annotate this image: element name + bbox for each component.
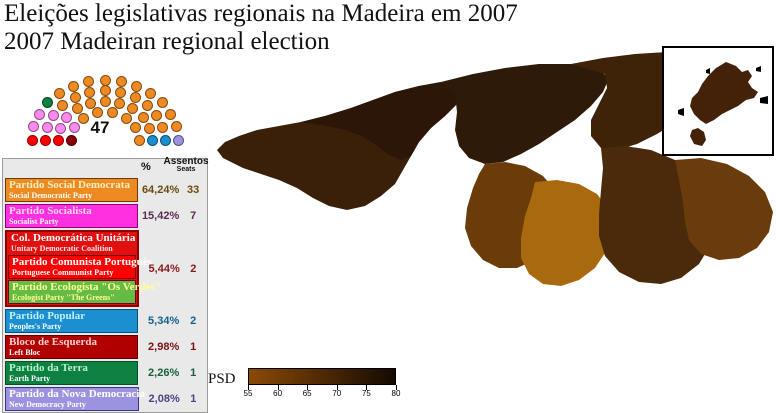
inset-islet-east xyxy=(760,96,768,104)
hemicycle-seat xyxy=(48,110,59,121)
hemicycle-seat xyxy=(130,92,141,103)
hemicycle-seat xyxy=(131,81,142,92)
party-name-pt: Col. Democrática Unitária xyxy=(11,233,133,244)
party-name-en: Portuguese Communist Party xyxy=(12,268,132,277)
scale-tick-label: 65 xyxy=(303,389,312,398)
scale-label: PSD xyxy=(208,371,236,388)
party-name-pt: Partido da Terra xyxy=(9,363,134,374)
inset-islet-northeast xyxy=(756,66,761,72)
party-results-legend: % Assentos Seats Partido Social Democrat… xyxy=(2,158,208,413)
legend-row: Partido da Nova DemocraciaNew Democracy … xyxy=(3,386,207,412)
legend-header-seats: Assentos Seats xyxy=(163,158,209,174)
coalition-header: Col. Democrática UnitáriaUnitary Democra… xyxy=(8,233,136,254)
hemicycle-seat xyxy=(69,122,80,133)
party-name-en: Social Democratic Party xyxy=(9,191,134,200)
hemicycle-seat xyxy=(114,98,125,109)
legend-row: Partido PopularPeoples's Party5,34%2 xyxy=(3,308,207,334)
hemicycle-seat xyxy=(53,135,64,146)
party-name-en: Socialist Party xyxy=(9,217,134,226)
hemicycle-seat xyxy=(165,109,176,120)
hemicycle-seat xyxy=(54,88,65,99)
legend-row: Col. Democrática UnitáriaUnitary Democra… xyxy=(3,229,207,308)
map-region-central-north xyxy=(441,64,609,164)
party-percent: 5,34% xyxy=(138,309,182,333)
hemicycle-seat xyxy=(57,100,68,111)
party-swatch: Bloco de EsquerdaLeft Bloc xyxy=(5,335,138,359)
party-name-pt: Partido Socialista xyxy=(9,206,134,217)
hemicycle-seat xyxy=(27,135,38,146)
party-percent: 2,08% xyxy=(139,387,182,411)
inset-islet-south xyxy=(690,128,706,146)
party-swatch: Partido SocialistaSocialist Party xyxy=(5,204,138,228)
hemicycle-seat xyxy=(121,113,132,124)
hemicycle-seat xyxy=(68,81,79,92)
party-percent: 5,44% xyxy=(139,230,182,307)
party-seats: 1 xyxy=(181,335,205,359)
party-seats: 1 xyxy=(182,387,205,411)
hemicycle-seat xyxy=(66,135,77,146)
total-seats-label: 47 xyxy=(80,118,120,138)
hemicycle-seat xyxy=(42,122,53,133)
hemicycle-seat xyxy=(151,110,162,121)
party-percent: 15,42% xyxy=(138,204,182,228)
page-title-pt: Eleições legislativas regionais na Madei… xyxy=(4,0,518,28)
party-name-pt: Partido da Nova Democracia xyxy=(9,389,135,400)
hemicycle-seat xyxy=(116,76,127,87)
hemicycle-seat xyxy=(138,112,149,123)
hemicycle-seat xyxy=(70,92,81,103)
hemicycle-seat xyxy=(107,107,118,118)
legend-row: Partido da TerraEarth Party2,26%1 xyxy=(3,360,207,386)
legend-header-percent: % xyxy=(141,161,151,173)
hemicycle-seat xyxy=(55,123,66,134)
inset-porto-santo-shape xyxy=(690,62,758,124)
hemicycle-seat xyxy=(83,76,94,87)
hemicycle-seat xyxy=(61,112,72,123)
party-name-en: Earth Party xyxy=(9,374,134,383)
scale-tick-label: 80 xyxy=(392,389,401,398)
hemicycle-seat xyxy=(173,135,184,146)
party-swatch-coalition: Col. Democrática UnitáriaUnitary Democra… xyxy=(5,230,139,307)
hemicycle-seat xyxy=(28,121,39,132)
hemicycle-seat xyxy=(157,122,168,133)
inset-islet-west xyxy=(678,108,684,116)
party-name-pt: Partido Social Democrata xyxy=(9,180,134,191)
scale-tick-label: 60 xyxy=(273,389,282,398)
scale-tick-label: 55 xyxy=(244,389,253,398)
hemicycle-seat xyxy=(145,88,156,99)
party-swatch: Partido Social DemocrataSocial Democrati… xyxy=(5,178,138,202)
hemicycle-seat xyxy=(115,87,126,98)
party-seats: 2 xyxy=(181,309,205,333)
inset-svg xyxy=(664,48,772,154)
legend-header: % Assentos Seats xyxy=(3,159,207,177)
party-swatch: Partido PopularPeoples's Party xyxy=(5,309,138,333)
hemicycle-seat xyxy=(100,96,111,107)
party-swatch: Partido da TerraEarth Party xyxy=(5,361,138,385)
scale-tick-label: 75 xyxy=(362,389,371,398)
party-name-pt: Partido Comunista Português xyxy=(12,257,132,268)
party-percent: 2,98% xyxy=(138,335,182,359)
party-name-pt: Partido Ecologista "Os Verdes" xyxy=(12,282,132,293)
party-name-pt: Bloco de Esquerda xyxy=(9,337,134,348)
party-seats: 7 xyxy=(181,204,205,228)
hemicycle-seat xyxy=(157,97,168,108)
scale-gradient-bar xyxy=(248,368,396,385)
hemicycle-seat xyxy=(92,107,103,118)
hemicycle-seat xyxy=(40,135,51,146)
hemicycle-seat xyxy=(171,121,182,132)
party-seats: 1 xyxy=(181,361,205,385)
hemicycle-seat xyxy=(34,109,45,120)
legend-row: Partido Social DemocrataSocial Democrati… xyxy=(3,177,207,203)
party-percent: 2,26% xyxy=(138,361,182,385)
hemicycle-seat xyxy=(100,75,111,86)
legend-header-seats-en: Seats xyxy=(163,166,209,174)
hemicycle-seat xyxy=(130,122,141,133)
party-swatch-subparty: Partido Ecologista "Os Verdes"Ecologist … xyxy=(8,280,136,304)
hemicycle-seat xyxy=(144,123,155,134)
party-name-en: Peoples's Party xyxy=(9,322,134,331)
hemicycle-seat xyxy=(100,85,111,96)
party-swatch: Partido da Nova DemocraciaNew Democracy … xyxy=(5,387,139,411)
parliament-hemicycle-diagram xyxy=(0,62,210,152)
hemicycle-seat xyxy=(134,135,145,146)
party-seats: 2 xyxy=(182,230,205,307)
party-swatch-subparty: Partido Comunista PortuguêsPortuguese Co… xyxy=(8,255,136,279)
legend-row: Bloco de EsquerdaLeft Bloc2,98%1 xyxy=(3,334,207,360)
party-name-en: Unitary Democratic Coalition xyxy=(11,244,133,253)
hemicycle-seat xyxy=(142,100,153,111)
porto-santo-inset-map xyxy=(662,46,774,156)
hemicycle-seat xyxy=(147,135,158,146)
hemicycle-seat xyxy=(84,87,95,98)
party-name-en: Ecologist Party "The Greens" xyxy=(12,293,132,302)
legend-row: Partido SocialistaSocialist Party15,42%7 xyxy=(3,203,207,229)
legend-rows: Partido Social DemocrataSocial Democrati… xyxy=(3,177,207,412)
party-name-pt: Partido Popular xyxy=(9,311,134,322)
hemicycle-seat xyxy=(160,135,171,146)
party-seats: 33 xyxy=(181,178,205,202)
party-percent: 64,24% xyxy=(138,178,182,202)
scale-tick-label: 70 xyxy=(332,389,341,398)
scale-tick-axis: 556065707580 xyxy=(248,385,396,401)
party-name-en: Left Bloc xyxy=(9,348,134,357)
hemicycle-seat xyxy=(42,97,53,108)
map-color-scale: PSD 556065707580 xyxy=(208,368,398,404)
inset-islet-northwest xyxy=(706,68,710,74)
